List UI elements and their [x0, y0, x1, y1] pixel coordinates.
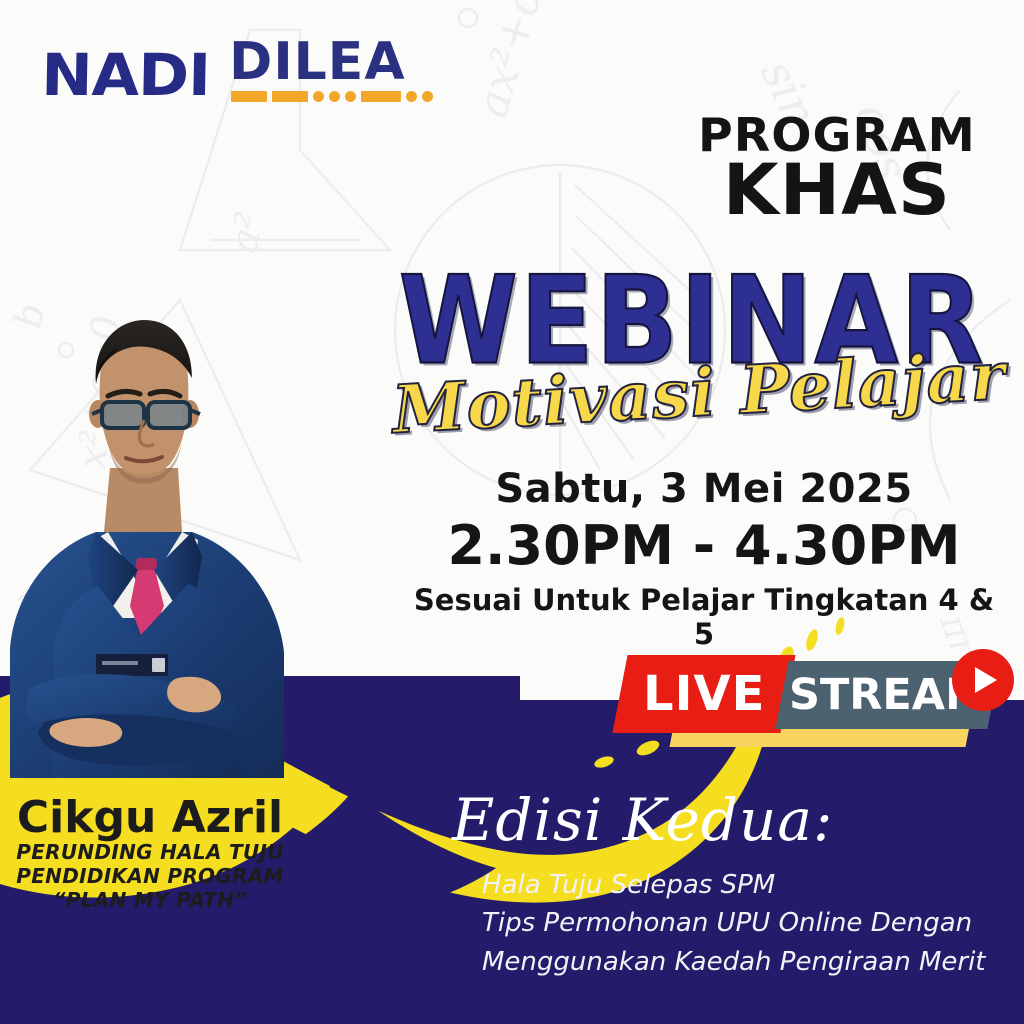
- event-details: Sabtu, 3 Mei 2025 2.30PM - 4.30PM Sesuai…: [404, 466, 1004, 651]
- play-icon[interactable]: [952, 649, 1014, 711]
- live-chip: LIVE: [612, 655, 795, 733]
- accent-dot: [406, 91, 417, 102]
- accent-bar: [231, 91, 267, 102]
- accent-dot: [313, 91, 324, 102]
- eyebrow-heading: PROGRAM KHAS: [702, 112, 972, 225]
- event-date: Sabtu, 3 Mei 2025: [404, 466, 1004, 512]
- play-triangle-icon: [975, 667, 997, 693]
- svg-text:a²: a²: [220, 208, 274, 258]
- dilea-logo: DILEA: [229, 36, 405, 104]
- speaker-role-line-2: PENDIDIKAN PROGRAM: [0, 864, 300, 888]
- speaker-role-line-1: PERUNDING HALA TUJU: [0, 840, 300, 864]
- eyebrow-line-khas: KHAS: [698, 155, 976, 225]
- svg-text:ax²+c=0: ax²+c=0: [467, 0, 570, 123]
- main-headline: WEBINAR Motivasi Pelajar: [392, 268, 992, 432]
- accent-bar: [272, 91, 308, 102]
- speaker-portrait: [0, 318, 322, 778]
- nadi-logo: NADI: [41, 46, 211, 104]
- speaker-role-line-3: “PLAN MY PATH”: [0, 888, 300, 912]
- agenda-item: Menggunakan Kaedah Pengiraan Merit: [482, 943, 1002, 981]
- dilea-logo-accent-dashes: [231, 91, 433, 102]
- agenda-item: Hala Tuju Selepas SPM: [482, 866, 1002, 904]
- accent-dot: [422, 91, 433, 102]
- event-audience: Sesuai Untuk Pelajar Tingkatan 4 & 5: [404, 583, 1004, 651]
- accent-dot: [329, 91, 340, 102]
- live-label: LIVE: [643, 666, 765, 722]
- brand-logos: NADI DILEA: [46, 36, 406, 104]
- poster-canvas: ax²+c=0 sin cos a² x²+c=0 b πr: [0, 0, 1024, 1024]
- accent-bar: [361, 91, 401, 102]
- live-stream-badge: LIVE STREAM: [612, 655, 1024, 765]
- accent-dot: [345, 91, 356, 102]
- event-time: 2.30PM - 4.30PM: [404, 514, 1004, 577]
- agenda-item: Tips Permohonan UPU Online Dengan: [482, 904, 1002, 942]
- edition-title: Edisi Kedua:: [452, 786, 833, 854]
- dilea-logo-text: DILEA: [229, 36, 405, 88]
- edition-agenda-list: Hala Tuju Selepas SPM Tips Permohonan UP…: [482, 866, 1002, 981]
- speaker-name: Cikgu Azril: [0, 796, 300, 840]
- speaker-info: Cikgu Azril PERUNDING HALA TUJU PENDIDIK…: [0, 796, 300, 912]
